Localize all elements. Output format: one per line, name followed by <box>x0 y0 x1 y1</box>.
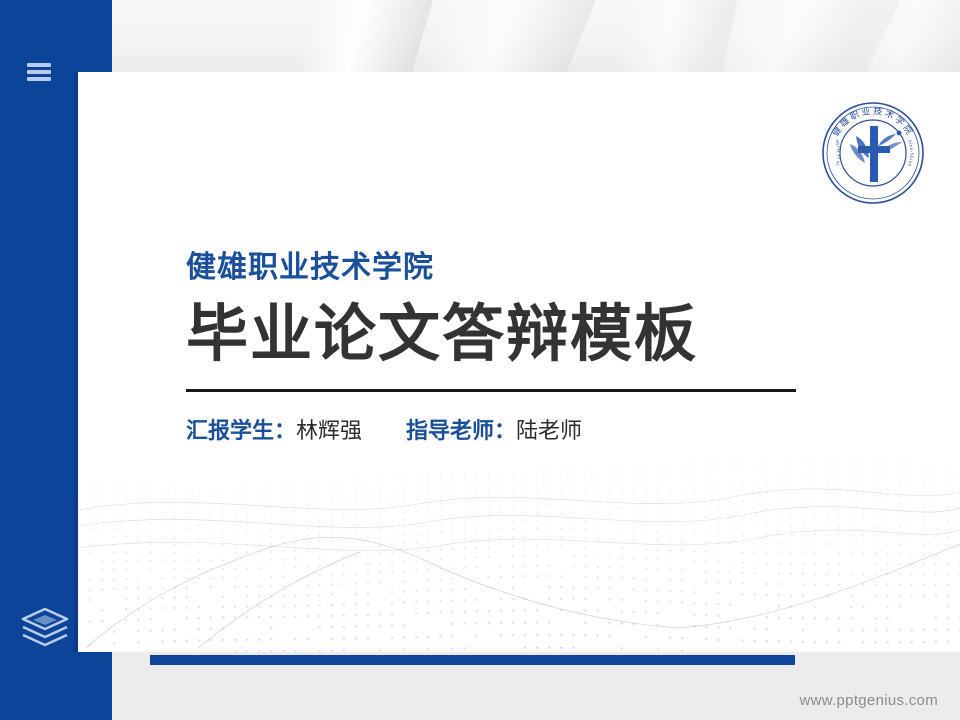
title-divider <box>186 389 796 392</box>
title-block: 健雄职业技术学院 毕业论文答辩模板 汇报学生：林辉强指导老师：陆老师 <box>186 250 826 444</box>
dotted-wave-mesh-graphic <box>78 452 960 652</box>
byline: 汇报学生：林辉强指导老师：陆老师 <box>186 418 826 444</box>
hamburger-bar <box>27 77 51 81</box>
bottom-accent-bar <box>150 655 795 665</box>
sidebar-rail-bottom <box>0 652 112 720</box>
sidebar-rail-middle <box>0 72 78 652</box>
sidebar-rail-top <box>0 0 112 72</box>
slide-content-card: 健雄职业技术学院 Institute of Technology Chien-S… <box>78 72 960 652</box>
student-label: 汇报学生： <box>186 418 296 443</box>
top-decor-band <box>0 0 960 72</box>
student-name: 林辉强 <box>296 418 362 443</box>
slide-canvas: 健雄职业技术学院 Institute of Technology Chien-S… <box>0 0 960 720</box>
layers-stack-icon[interactable] <box>19 604 71 650</box>
hamburger-icon[interactable] <box>27 63 51 81</box>
advisor-label: 指导老师： <box>406 418 516 443</box>
footer-url: www.pptgenius.com <box>800 692 939 709</box>
hamburger-bar <box>27 70 51 74</box>
page-title: 毕业论文答辩模板 <box>186 302 826 369</box>
hamburger-bar <box>27 63 51 67</box>
university-seal-icon: 健雄职业技术学院 Institute of Technology Chien-S… <box>820 100 926 206</box>
school-subtitle: 健雄职业技术学院 <box>186 250 826 286</box>
advisor-name: 陆老师 <box>516 418 582 443</box>
